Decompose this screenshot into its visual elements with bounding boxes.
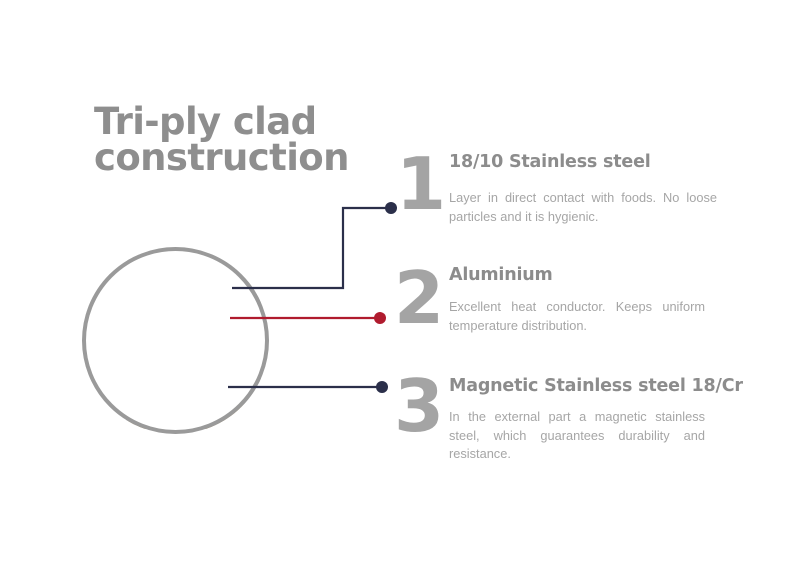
page-title: Tri-ply clad construction bbox=[94, 104, 394, 177]
layer-body-3: In the external part a magnetic stainles… bbox=[449, 408, 705, 464]
layer-number-2: 2 bbox=[394, 262, 442, 334]
layer-number-1: 1 bbox=[396, 148, 444, 220]
magnifier-ring bbox=[82, 247, 269, 434]
page-title-line-1: Tri-ply clad bbox=[94, 104, 394, 140]
page-title-line-2: construction bbox=[94, 140, 394, 176]
connector-dot-2 bbox=[374, 312, 386, 324]
layer-heading-2: Aluminium bbox=[449, 265, 553, 285]
infographic-canvas: Tri-ply clad construction 1 18/10 Stainl… bbox=[0, 0, 800, 571]
connector-dot-3 bbox=[376, 381, 388, 393]
layer-body-1: Layer in direct contact with foods. No l… bbox=[449, 189, 717, 226]
layer-heading-3: Magnetic Stainless steel 18/Cr bbox=[449, 376, 743, 396]
layer-number-3: 3 bbox=[394, 370, 442, 442]
layer-body-2: Excellent heat conductor. Keeps uniform … bbox=[449, 298, 705, 335]
layer-heading-1: 18/10 Stainless steel bbox=[449, 152, 651, 172]
